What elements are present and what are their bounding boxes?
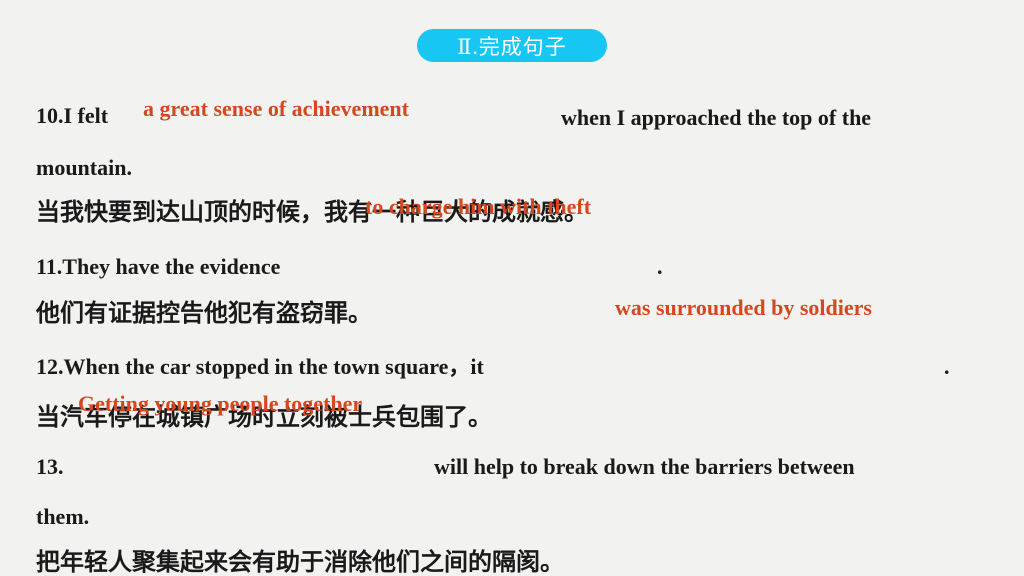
question-12-stray-answer: Getting young people together <box>78 393 362 415</box>
question-11-period: . <box>657 256 663 278</box>
question-13-prompt: 13. <box>36 456 64 478</box>
question-13-tail: will help to break down the barriers bet… <box>434 456 855 478</box>
question-11-prompt: 11.They have the evidence <box>36 256 280 278</box>
question-10-stray-answer: to charge him with theft <box>365 196 591 218</box>
section-header-label: Ⅱ.完成句子 <box>457 31 567 61</box>
question-13-tail-line2: them. <box>36 506 89 528</box>
section-header-pill: Ⅱ.完成句子 <box>417 29 607 62</box>
question-10-answer: a great sense of achievement <box>143 98 409 120</box>
question-13-translation: 把年轻人聚集起来会有助于消除他们之间的隔阂。 <box>36 550 564 574</box>
question-11-translation: 他们有证据控告他犯有盗窃罪。 <box>36 301 372 325</box>
question-10-prompt: 10.I felt <box>36 105 108 127</box>
question-10-tail: when I approached the top of the <box>561 107 871 129</box>
question-12-prompt: 12.When the car stopped in the town squa… <box>36 356 484 378</box>
slide-canvas: Ⅱ.完成句子 10.I felt a great sense of achiev… <box>0 0 1024 576</box>
question-10-tail-line2: mountain. <box>36 157 132 179</box>
question-11-stray-answer: was surrounded by soldiers <box>615 297 872 319</box>
question-12-period: . <box>944 356 950 378</box>
